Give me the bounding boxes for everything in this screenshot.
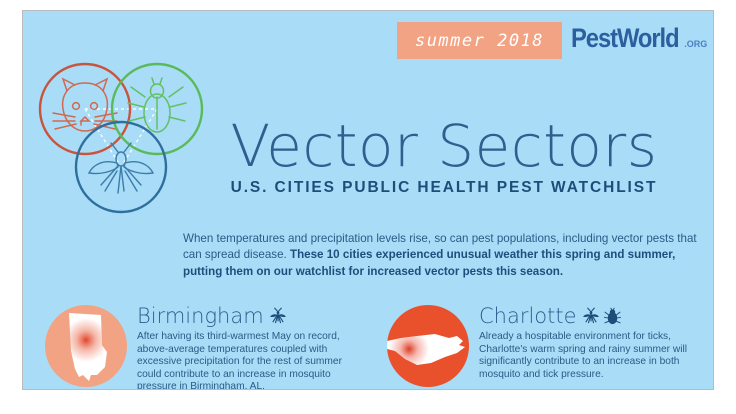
city-card-charlotte[interactable]: Charlotte [375, 303, 714, 390]
charlotte-name: Charlotte [479, 304, 577, 328]
city-card-birmingham[interactable]: Birmingham [33, 303, 369, 390]
north-carolina-map-icon [387, 305, 469, 387]
birmingham-description: After having its third-warmest May on re… [137, 331, 365, 390]
infographic-root: summer 2018 PestWorld .ORG [0, 0, 736, 414]
birmingham-name-row: Birmingham [137, 303, 365, 329]
alabama-map-icon [45, 305, 127, 387]
mosquito-icon [268, 306, 288, 326]
birmingham-name: Birmingham [137, 304, 264, 328]
tick-icon [603, 307, 622, 326]
pestworld-logo[interactable]: PestWorld .ORG [571, 23, 714, 57]
season-badge: summer 2018 [397, 22, 562, 59]
charlotte-text-block: Charlotte [479, 303, 711, 381]
charlotte-name-row: Charlotte [479, 303, 711, 329]
intro-paragraph: When temperatures and precipitation leve… [183, 231, 703, 281]
brand-name: PestWorld [571, 23, 679, 54]
page-title: Vector Sectors [173, 115, 714, 177]
birmingham-map-badge [45, 305, 127, 387]
birmingham-text-block: Birmingham [137, 303, 365, 390]
mosquito-icon [581, 306, 601, 326]
infographic-panel: summer 2018 PestWorld .ORG [22, 10, 714, 390]
brand-tld: .ORG [684, 39, 707, 49]
connector-lines [85, 109, 157, 167]
charlotte-description: Already a hospitable environment for tic… [479, 331, 711, 381]
charlotte-pest-icons [581, 306, 622, 326]
birmingham-pest-icons [268, 306, 288, 326]
season-label: summer 2018 [415, 31, 544, 51]
page-subtitle: U.S. CITIES PUBLIC HEALTH PEST WATCHLIST [173, 179, 714, 197]
mosquito-icon [89, 143, 153, 193]
charlotte-map-badge [387, 305, 469, 387]
